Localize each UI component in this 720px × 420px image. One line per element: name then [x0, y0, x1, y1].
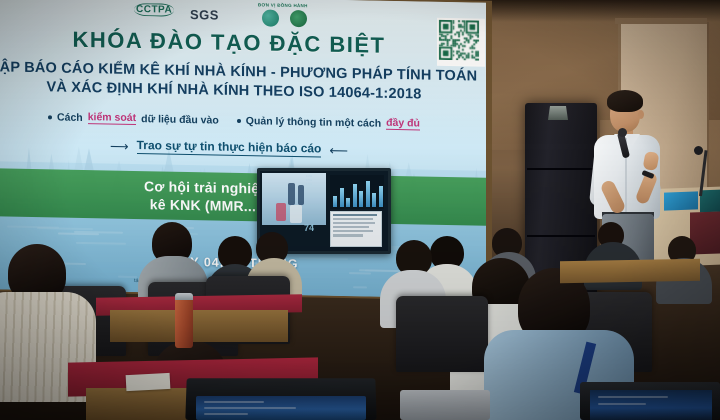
bullet-1-suffix: dữ liệu đầu vào [141, 113, 219, 126]
laptop-center-screen[interactable] [196, 396, 366, 420]
arrow-right-icon: ⟶ [110, 139, 129, 152]
paper-sheet[interactable] [126, 373, 171, 391]
cctpa-logo: CCTPA [134, 3, 174, 17]
bullet-2-prefix: Quản lý thông tin một cách [246, 115, 381, 130]
table-skirt-mid [110, 310, 288, 342]
laptop-left[interactable] [400, 390, 490, 420]
chair [396, 296, 488, 372]
monitor-bar-chart [330, 175, 384, 209]
thermos-cap[interactable] [175, 293, 193, 300]
presenter-ear [638, 110, 644, 119]
partner-logo-1 [262, 9, 279, 26]
lectern-teal-panel [700, 190, 720, 213]
presenter [578, 88, 674, 268]
door-frame [615, 18, 707, 24]
presenter-hair [607, 90, 643, 112]
bullet-2-highlight: đầy đủ [386, 117, 420, 131]
monitor-stat: 907 [306, 187, 326, 191]
bullet-dot-icon [48, 115, 52, 119]
laptop-right-screen[interactable] [590, 390, 712, 420]
monitor-stat-list: 0.0%3.5%1.6%907 [306, 175, 326, 209]
microphone-stand-head-icon [694, 146, 703, 155]
microphone-head-icon [618, 128, 627, 137]
monitor-big-number: 74 [304, 223, 314, 233]
table-right [560, 259, 700, 283]
monitor-data-popup [330, 211, 382, 247]
thermos-flask[interactable] [175, 296, 193, 348]
sgs-logo: SGS [190, 7, 219, 23]
bullet-1-highlight: kiểm soát [88, 111, 136, 125]
bullet-1-prefix: Cách [57, 111, 83, 123]
partner-label: ĐƠN VỊ ĐỒNG HÀNH [258, 2, 308, 8]
pa-speaker-horn [548, 106, 568, 120]
screenshot-root: CCTPA SGS ĐƠN VỊ ĐỒNG HÀNH KHÓA ĐÀO TẠO … [0, 0, 720, 420]
bullet-dot-icon [237, 118, 241, 122]
arrow-left-icon: ⟵ [329, 143, 348, 156]
partner-logo-2 [290, 10, 307, 27]
